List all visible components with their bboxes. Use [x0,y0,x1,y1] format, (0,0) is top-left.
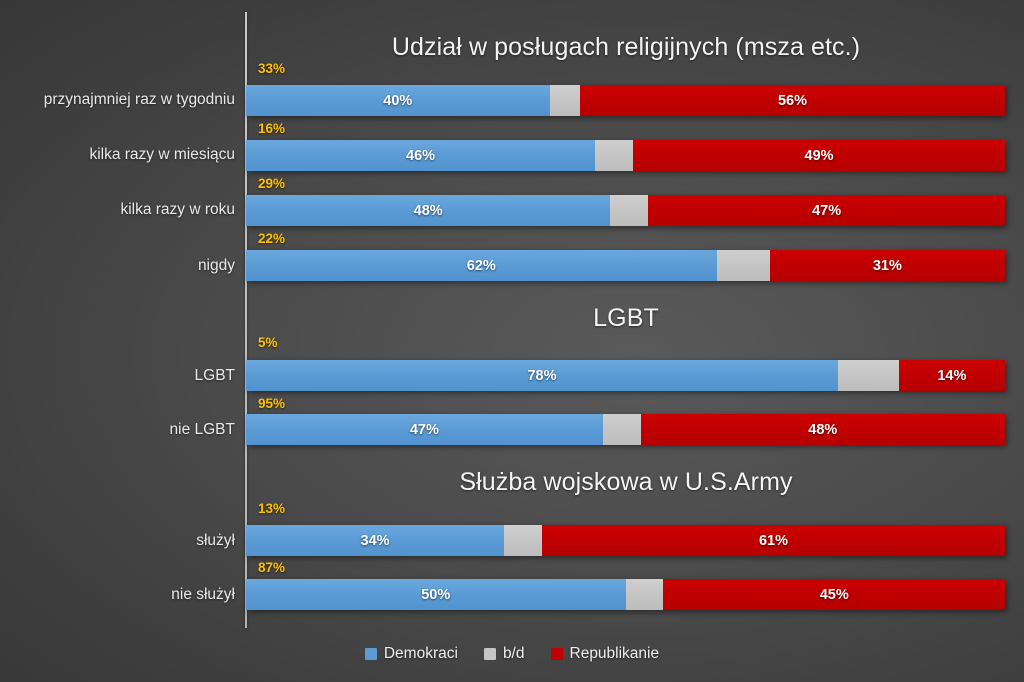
table-row: 62% 31% [246,250,1005,281]
table-row: 46% 49% [246,140,1005,171]
table-row: 40% 56% [246,85,1005,116]
chart-legend: Demokraci b/d Republikanie [0,645,1024,663]
share-label-never: 22% [258,232,285,246]
legend-label: Demokraci [384,645,458,663]
bar-segment-republikanie[interactable]: 47% [648,195,1005,226]
bar-segment-bd[interactable] [610,195,648,226]
bar-segment-republikanie[interactable]: 14% [899,360,1005,391]
category-label-weekly: przynajmniej raz w tygodniu [44,92,235,108]
legend-swatch-icon [551,648,563,660]
bar-segment-demokraci[interactable]: 78% [246,360,838,391]
share-label-lgbt: 5% [258,336,278,350]
bar-segment-demokraci[interactable]: 48% [246,195,610,226]
share-label-monthly: 16% [258,122,285,136]
category-label-never: nigdy [198,258,235,274]
bar-segment-republikanie[interactable]: 56% [580,85,1005,116]
chart-slide: Udział w posługach religijnych (msza etc… [0,0,1024,682]
bar-segment-bd[interactable] [504,525,542,556]
bar-segment-demokraci[interactable]: 62% [246,250,717,281]
share-label-not-lgbt: 95% [258,397,285,411]
section-title-military: Służba wojskowa w U.S.Army [246,468,1006,497]
section-title-lgbt: LGBT [246,304,1006,333]
bar-segment-bd[interactable] [595,140,633,171]
bar-segment-demokraci[interactable]: 46% [246,140,595,171]
bar-segment-demokraci[interactable]: 47% [246,414,603,445]
table-row: 48% 47% [246,195,1005,226]
bar-segment-bd[interactable] [717,250,770,281]
category-label-not-lgbt: nie LGBT [170,422,235,438]
bar-segment-republikanie[interactable]: 45% [663,579,1005,610]
bar-segment-demokraci[interactable]: 34% [246,525,504,556]
legend-swatch-icon [484,648,496,660]
bar-segment-bd[interactable] [603,414,641,445]
legend-swatch-icon [365,648,377,660]
bar-segment-republikanie[interactable]: 31% [770,250,1005,281]
category-label-not-served: nie służył [171,587,235,603]
category-label-lgbt: LGBT [195,368,235,384]
legend-item-bd[interactable]: b/d [484,645,525,663]
bar-segment-republikanie[interactable]: 48% [641,414,1005,445]
bar-segment-demokraci[interactable]: 40% [246,85,550,116]
bar-segment-bd[interactable] [626,579,664,610]
legend-label: Republikanie [570,645,660,663]
category-label-monthly: kilka razy w miesiącu [89,147,235,163]
bar-segment-bd[interactable] [550,85,580,116]
legend-item-demokraci[interactable]: Demokraci [365,645,458,663]
bar-segment-demokraci[interactable]: 50% [246,579,626,610]
legend-item-republikanie[interactable]: Republikanie [551,645,660,663]
table-row: 47% 48% [246,414,1005,445]
table-row: 78% 14% [246,360,1005,391]
category-label-served: służył [196,533,235,549]
bar-segment-bd[interactable] [838,360,899,391]
section-title-religion: Udział w posługach religijnych (msza etc… [246,33,1006,62]
share-label-yearly: 29% [258,177,285,191]
bar-segment-republikanie[interactable]: 49% [633,140,1005,171]
table-row: 50% 45% [246,579,1005,610]
share-label-not-served: 87% [258,561,285,575]
bar-segment-republikanie[interactable]: 61% [542,525,1005,556]
share-label-served: 13% [258,502,285,516]
legend-label: b/d [503,645,525,663]
category-label-yearly: kilka razy w roku [120,202,235,218]
table-row: 34% 61% [246,525,1005,556]
share-label-weekly: 33% [258,62,285,76]
